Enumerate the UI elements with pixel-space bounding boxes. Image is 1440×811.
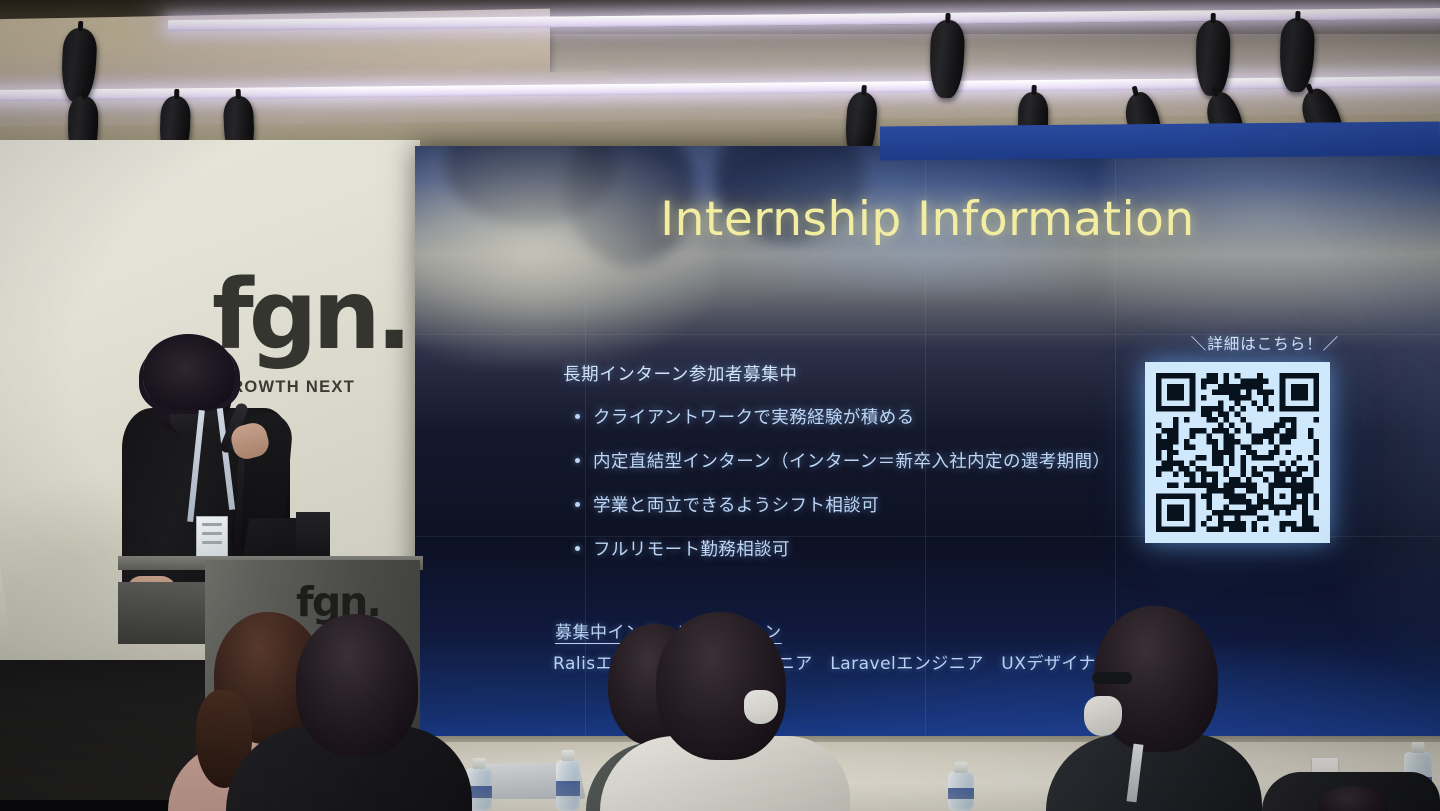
audience-face-mask	[744, 690, 778, 724]
conference-room-photo: fgn. UOKA GROWTH NEXT Internship Informa…	[0, 0, 1440, 811]
blue-ceiling-accent-strip	[880, 122, 1440, 161]
slide-bullet-label: 内定直結型インターン（インターン＝新卒入社内定の選考期間）	[593, 448, 1110, 473]
slide-lead-text: 長期インターン参加者募集中	[563, 361, 797, 386]
water-bottle	[556, 760, 580, 811]
slide-bullet-item: 学業と両立できるようシフト相談可	[575, 492, 1110, 517]
audience-eyeglasses	[1092, 672, 1132, 684]
bullet-dot-icon	[575, 546, 580, 551]
slide-bullet-item: クライアントワークで実務経験が積める	[575, 404, 1110, 429]
slide-bullet-item: フルリモート勤務相談可	[575, 536, 1110, 561]
qr-caption: ＼詳細はこちら！／	[1155, 332, 1375, 354]
slide-bullet-item: 内定直結型インターン（インターン＝新卒入社内定の選考期間）	[575, 448, 1110, 473]
bullet-dot-icon	[575, 414, 580, 419]
podium-laptop-screen	[296, 512, 330, 560]
presenter-hair	[143, 334, 235, 410]
bullet-dot-icon	[575, 502, 580, 507]
slide-bullet-label: 学業と両立できるようシフト相談可	[593, 492, 879, 517]
screen-glare-left	[415, 146, 715, 366]
slide-bullet-label: フルリモート勤務相談可	[593, 536, 790, 561]
podium-side-ledge	[118, 582, 214, 644]
track-spotlight	[844, 91, 879, 150]
water-bottle	[948, 772, 974, 811]
qr-code-canvas	[1156, 373, 1319, 532]
bullet-dot-icon	[575, 458, 580, 463]
audience-face-mask	[1084, 696, 1122, 736]
slide-bullet-label: クライアントワークで実務経験が積める	[593, 404, 915, 429]
presenter-name-badge	[196, 516, 228, 560]
presentation-video-wall: Internship Information 長期インターン参加者募集中 クライ…	[415, 146, 1440, 746]
qr-code-icon	[1145, 362, 1330, 543]
fgn-wall-logo: fgn.	[212, 272, 407, 358]
slide-title: Internship Information	[415, 192, 1440, 247]
slide-bullet-list: クライアントワークで実務経験が積める内定直結型インターン（インターン＝新卒入社内…	[575, 404, 1110, 580]
